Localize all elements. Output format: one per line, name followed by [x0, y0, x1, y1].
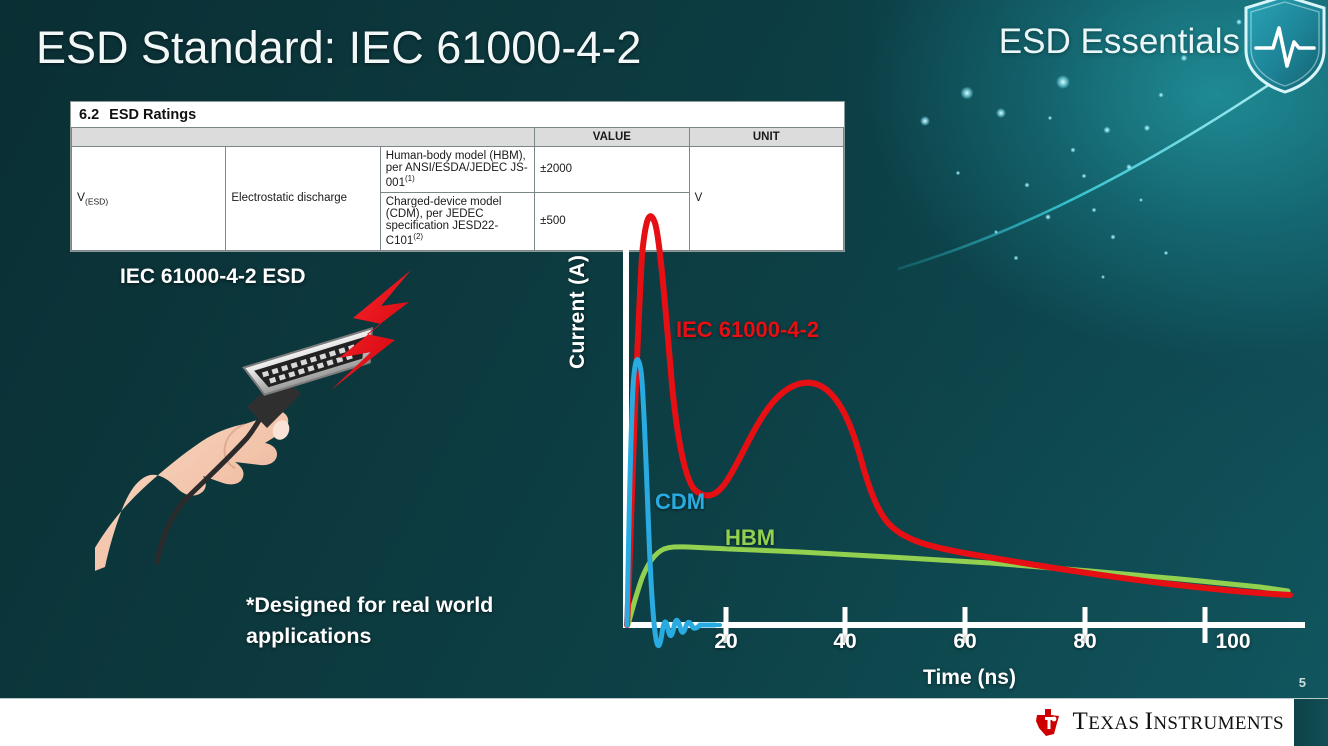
- esd-waveform-chart: [560, 195, 1320, 695]
- ti-instruments-cap: I: [1145, 708, 1154, 735]
- slide-canvas: ESD Standard: IEC 61000-4-2 ESD Essentia…: [0, 0, 1328, 746]
- ti-texas-mark-icon: [1032, 706, 1064, 738]
- x-tick-label: 20: [714, 630, 737, 654]
- series-iec-curve: [627, 216, 1290, 625]
- brand-label: ESD Essentials: [999, 22, 1240, 62]
- ti-texas-cap: T: [1073, 708, 1089, 735]
- symbol-base: V: [77, 190, 85, 204]
- table-section-heading: 6.2ESD Ratings: [71, 102, 844, 127]
- table-header-value: VALUE: [535, 128, 689, 147]
- table-header-blank: [72, 128, 535, 147]
- page-number: 5: [1299, 675, 1306, 690]
- condition-footnote: (1): [405, 174, 415, 183]
- x-tick-label: 40: [833, 630, 856, 654]
- table-cell-parameter: Electrostatic discharge: [226, 147, 380, 251]
- x-tick-label: 80: [1073, 630, 1096, 654]
- ti-instruments-rest: NSTRUMENTS: [1153, 713, 1284, 734]
- note-text: *Designed for real world applications: [246, 590, 546, 652]
- page-title: ESD Standard: IEC 61000-4-2: [36, 22, 641, 74]
- chart-y-axis-label: Current (A): [566, 255, 590, 369]
- x-tick-label: 100: [1215, 630, 1250, 654]
- condition-footnote: (2): [413, 232, 423, 241]
- table-header-row: VALUE UNIT: [72, 128, 844, 147]
- texas-instruments-logo: TEXAS INSTRUMENTS: [1032, 704, 1284, 740]
- series-label-hbm: HBM: [725, 525, 775, 551]
- table-section-number: 6.2: [79, 107, 99, 123]
- table-section-title: ESD Ratings: [109, 107, 196, 123]
- ti-texas-rest: EXAS: [1088, 713, 1144, 734]
- table-row: V(ESD) Electrostatic discharge Human-bod…: [72, 147, 844, 193]
- table-header-unit: UNIT: [689, 128, 843, 147]
- series-label-cdm: CDM: [655, 489, 705, 515]
- table-cell-symbol: V(ESD): [72, 147, 226, 251]
- chart-x-axis-label: Time (ns): [923, 666, 1016, 690]
- symbol-subscript: (ESD): [85, 197, 108, 207]
- condition-text: Human-body model (HBM), per ANSI/ESDA/JE…: [386, 150, 528, 189]
- series-label-iec: IEC 61000-4-2: [676, 317, 819, 343]
- condition-text: Charged-device model (CDM), per JEDEC sp…: [386, 196, 502, 247]
- x-tick-label: 60: [953, 630, 976, 654]
- table-cell-value: ±2000: [535, 147, 689, 193]
- ti-wordmark: TEXAS INSTRUMENTS: [1073, 708, 1284, 736]
- table-cell-condition: Human-body model (HBM), per ANSI/ESDA/JE…: [380, 147, 534, 193]
- shield-pulse-icon: [1242, 0, 1328, 94]
- hand-holding-hdmi-connector-with-lightning-bolt-icon: [95, 262, 435, 582]
- table-cell-condition: Charged-device model (CDM), per JEDEC sp…: [380, 192, 534, 250]
